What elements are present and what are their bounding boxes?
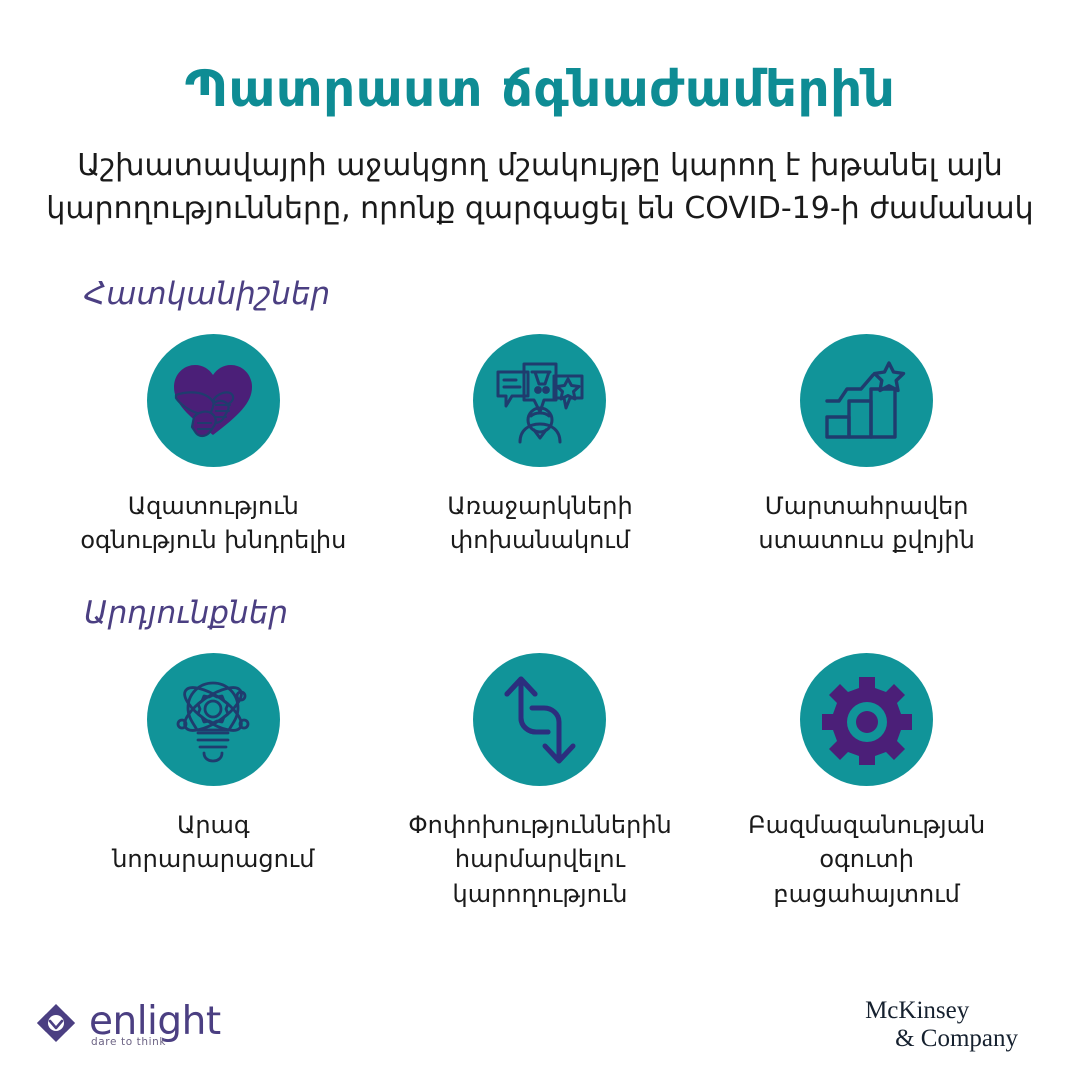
icon-badge [800,334,933,467]
icon-badge [147,653,280,786]
item-caption: Մարտահրավեր ստատուս քվոյին [758,489,974,557]
gear-icon [822,675,912,765]
subtitle-line-2: կարողությունները, որոնք զարգացել են COVI… [36,188,1044,231]
enlight-wordmark: enlight dare to think [89,1002,221,1048]
section-heading-characteristics: Հատկանիշներ [84,276,1080,312]
person-speech-bubbles-icon [494,358,586,444]
enlight-logo: enlight dare to think [34,1001,221,1050]
item-card-freedom-to-ask-help: Ազատություն օգնություն խնդրելիս [63,334,363,557]
caption-line-1: Մարտահրավեր [758,489,974,523]
icon-badge [147,334,280,467]
item-caption: Փոփոխություններին հարմարվելու կարողությո… [408,808,672,910]
caption-line-1: Արագ [112,808,314,842]
items-row-results: Արագ նորարարացում [0,653,1080,910]
enlight-diamond-icon [34,1001,78,1050]
footer: enlight dare to think McKinsey & Company [0,984,1080,1080]
item-card-rapid-innovation: Արագ նորարարացում [63,653,363,876]
item-card-adaptability: Փոփոխություններին հարմարվելու կարողությո… [390,653,690,910]
item-card-challenge-status-quo: Մարտահրավեր ստատուս քվոյին [717,334,1017,557]
caption-line-1: Բազմազանության [748,808,985,842]
infographic-page: Պատրաստ ճգնաժամերին Աշխատավայրի աջակցող … [0,0,1080,1080]
item-caption: Ազատություն օգնություն խնդրելիս [80,489,346,557]
caption-line-1: Ազատություն [80,489,346,523]
caption-line-2: ստատուս քվոյին [758,523,974,557]
icon-badge [473,334,606,467]
item-caption: Առաջարկների փոխանակում [447,489,632,557]
caption-line-3: բացահայտում [748,877,985,911]
bar-chart-growth-star-icon [823,361,911,441]
icon-badge [473,653,606,786]
page-title: Պատրաստ ճգնաժամերին [0,0,1080,117]
caption-line-2: փոխանակում [447,523,632,557]
icon-badge [800,653,933,786]
caption-line-1: Առաջարկների [447,489,632,523]
mckinsey-line-1: McKinsey [865,997,1018,1025]
item-card-sharing-suggestions: Առաջարկների փոխանակում [390,334,690,557]
item-caption: Բազմազանության օգուտի բացահայտում [748,808,985,910]
hands-heart-icon [170,361,256,441]
mckinsey-line-2: & Company [865,1025,1018,1053]
lightbulb-gear-atom-icon [171,677,255,763]
caption-line-3: կարողություն [408,877,672,911]
caption-line-2: նորարարացում [112,842,314,876]
subtitle-line-1: Աշխատավայրի աջակցող մշակույթը կարող է խթ… [36,145,1044,188]
caption-line-1: Փոփոխություններին [408,808,672,842]
mckinsey-logo: McKinsey & Company [865,997,1046,1053]
item-card-diversity-benefit: Բազմազանության օգուտի բացահայտում [717,653,1017,910]
caption-line-2: հարմարվելու [408,842,672,876]
caption-line-2: օգնություն խնդրելիս [80,523,346,557]
two-way-arrows-icon [496,676,584,764]
section-heading-results: Արդյունքներ [84,595,1080,631]
item-caption: Արագ նորարարացում [112,808,314,876]
page-subtitle: Աշխատավայրի աջակցող մշակույթը կարող է խթ… [0,145,1080,230]
caption-line-2: օգուտի [748,842,985,876]
items-row-characteristics: Ազատություն օգնություն խնդրելիս [0,334,1080,557]
